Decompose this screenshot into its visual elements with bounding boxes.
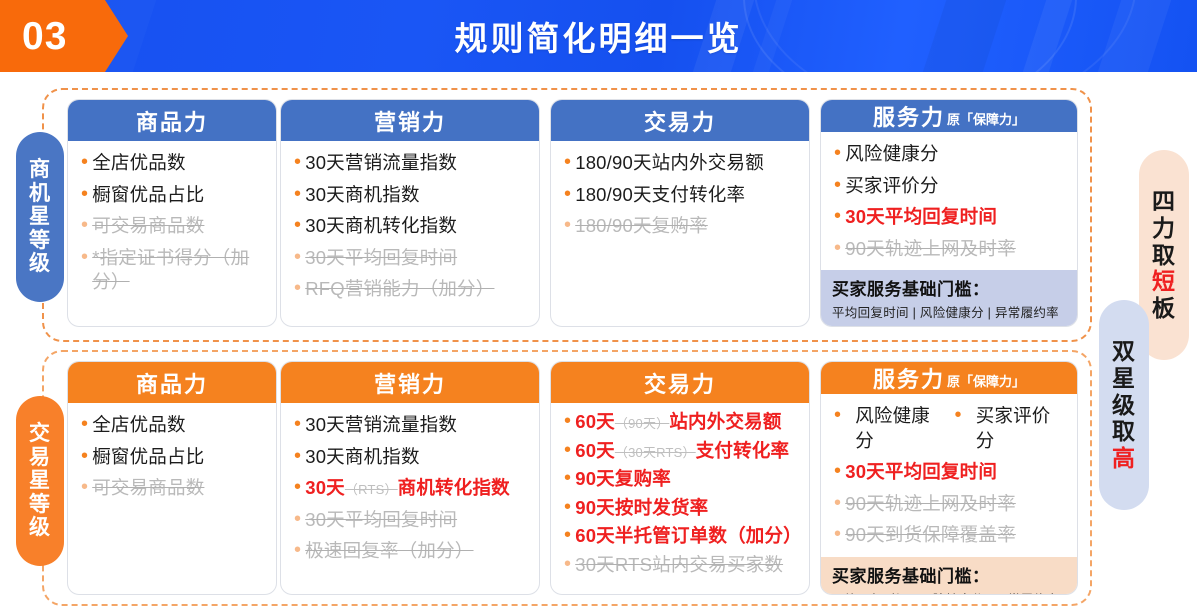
card-title: 服务力 [873, 100, 945, 132]
note-char: 双 [1112, 338, 1136, 365]
item-prefix: 60天 [575, 411, 615, 432]
section-number-badge: 03 [0, 0, 128, 72]
bullet-icon: • [294, 539, 301, 562]
bullet-icon: • [294, 246, 301, 269]
card-body: •风险健康分 •买家评价分 •30天平均回复时间 •90天轨迹上网及时率 •90… [821, 394, 1077, 557]
item-text: 风险健康分 [855, 404, 944, 453]
list-item: •180/90天站内外交易额 [564, 151, 797, 176]
bullet-icon: • [81, 445, 88, 468]
list-item: •30天平均回复时间 [834, 460, 1065, 485]
list-item: •可交易商品数 [81, 214, 264, 239]
row-label-char: 机 [29, 182, 51, 206]
item-text: 买家评价分 [976, 404, 1065, 453]
item-suffix: 商机转化指数 [398, 477, 510, 498]
bullet-icon: • [834, 460, 841, 483]
bullet-icon: • [294, 151, 301, 174]
bullet-icon: • [834, 492, 841, 515]
bullet-icon: • [81, 246, 88, 269]
footer-title: 买家服务基础门槛： [832, 275, 1067, 300]
list-item: •全店优品数 [81, 151, 264, 176]
card-body: •60天（90天）站内外交易额 •60天（30天RTS）支付转化率 •90天复购… [551, 403, 809, 594]
note-char: 四 [1152, 188, 1176, 215]
bullet-icon: • [834, 237, 841, 260]
list-item: •风险健康分 •买家评价分 [834, 404, 1065, 453]
list-item: •30天RTS站内交易买家数 [564, 553, 797, 578]
list-item: •60天（30天RTS）支付转化率 [564, 439, 797, 464]
list-item: •30天平均回复时间 [834, 205, 1065, 230]
list-item: •RFQ营销能力（加分） [294, 277, 527, 302]
list-item: •全店优品数 [81, 413, 264, 438]
bullet-icon: • [294, 413, 301, 436]
list-item: •60天（90天）站内外交易额 [564, 410, 797, 435]
bullet-icon: • [564, 183, 571, 206]
item-suffix: 支付转化率 [696, 440, 790, 461]
row-label-jiaoyi: 交 易 星 等 级 [16, 396, 64, 566]
card-jiaoyili-row1[interactable]: 交易力 •180/90天站内外交易额 •180/90天支付转化率 •180/90… [551, 100, 809, 326]
item-strike: （90天） [615, 416, 669, 431]
note-char: 取 [1112, 418, 1136, 445]
list-item: •风险健康分 [834, 142, 1065, 167]
list-item: •60天半托管订单数（加分） [564, 524, 797, 549]
row-label-char: 交 [29, 422, 51, 446]
footer-title: 买家服务基础门槛： [832, 562, 1067, 587]
bullet-icon: • [294, 508, 301, 531]
note-char: 取 [1152, 242, 1176, 269]
list-item: •买家评价分 [834, 174, 1065, 199]
bullet-icon: • [294, 214, 301, 237]
bullet-icon: • [81, 413, 88, 436]
list-item: •90天轨迹上网及时率 [834, 492, 1065, 517]
card-header: 服务力 原「保障力」 [821, 362, 1077, 394]
list-item: •90天按时发货率 [564, 496, 797, 521]
bullet-icon: • [834, 205, 841, 228]
bullet-icon: • [834, 174, 841, 197]
item-prefix: 30天 [305, 477, 345, 498]
list-item: •30天平均回复时间 [294, 508, 527, 533]
card-body: •30天营销流量指数 •30天商机指数 •30天商机转化指数 •30天平均回复时… [281, 141, 539, 326]
list-item: •可交易商品数 [81, 476, 264, 501]
bullet-icon: • [564, 214, 571, 237]
card-header: 交易力 [551, 100, 809, 141]
bullet-icon: • [81, 151, 88, 174]
card-title: 交易力 [644, 105, 716, 137]
row-label-char: 商 [29, 158, 51, 182]
note-char-highlight: 短 [1152, 268, 1176, 295]
bullet-icon: • [564, 410, 571, 433]
card-title: 营销力 [374, 105, 446, 137]
card-header: 营销力 [281, 100, 539, 141]
note-char-highlight: 高 [1112, 445, 1136, 472]
card-subtitle: 原「保障力」 [947, 109, 1025, 128]
card-title: 服务力 [873, 362, 945, 394]
card-header: 营销力 [281, 362, 539, 403]
row-label-shangji: 商 机 星 等 级 [16, 132, 64, 302]
bullet-icon: • [564, 524, 571, 547]
page-title: 规则简化明细一览 [0, 0, 1197, 72]
item-strike: （30天RTS） [615, 445, 696, 460]
list-item: •90天复购率 [564, 467, 797, 492]
list-item: •30天营销流量指数 [294, 413, 527, 438]
list-item: •极速回复率（加分） [294, 539, 527, 564]
item-strike: （RTS） [345, 482, 398, 497]
note-char: 级 [1112, 392, 1136, 419]
card-body: •全店优品数 •橱窗优品占比 •可交易商品数 •*指定证书得分（加分） [68, 141, 276, 326]
bullet-icon: • [564, 439, 571, 462]
card-body: •风险健康分 •买家评价分 •30天平均回复时间 •90天轨迹上网及时率 [821, 132, 1077, 270]
card-title: 商品力 [136, 367, 208, 399]
bullet-icon: • [834, 142, 841, 165]
list-item: •180/90天复购率 [564, 214, 797, 239]
note-double-star-high: 双 星 级 取 高 [1099, 300, 1149, 510]
footer-subtitle: 平均回复时间 | 风险健康分 | 异常履约率 [832, 302, 1067, 321]
card-header: 商品力 [68, 100, 276, 141]
bullet-icon: • [294, 183, 301, 206]
row-label-char: 星 [29, 469, 51, 493]
list-item: •180/90天支付转化率 [564, 183, 797, 208]
bullet-icon: • [81, 476, 88, 499]
card-fuwuli-row1[interactable]: 服务力 原「保障力」 •风险健康分 •买家评价分 •30天平均回复时间 •90天… [821, 100, 1077, 326]
row-label-char: 星 [29, 205, 51, 229]
note-char: 力 [1152, 215, 1176, 242]
card-footer-threshold: 买家服务基础门槛： 平均回复时间 | 风险健康分 | 异常履约率 [821, 557, 1077, 594]
list-item: •30天商机转化指数 [294, 214, 527, 239]
row-label-char: 级 [29, 252, 51, 276]
card-header: 交易力 [551, 362, 809, 403]
bullet-icon: • [834, 523, 841, 546]
bullet-icon: • [834, 404, 841, 427]
bullet-icon: • [955, 404, 962, 427]
card-shangpinli-row2[interactable]: 商品力 •全店优品数 •橱窗优品占比 •可交易商品数 [68, 362, 276, 594]
card-header: 服务力 原「保障力」 [821, 100, 1077, 132]
card-title: 交易力 [644, 367, 716, 399]
card-yingxiaoli-row1[interactable]: 营销力 •30天营销流量指数 •30天商机指数 •30天商机转化指数 •30天平… [281, 100, 539, 326]
row-label-char: 易 [29, 446, 51, 470]
item-suffix: 站内外交易额 [669, 411, 781, 432]
note-char: 板 [1152, 295, 1176, 322]
card-header: 商品力 [68, 362, 276, 403]
list-item: •30天平均回复时间 [294, 246, 527, 271]
list-item: •30天商机指数 [294, 445, 527, 470]
row-label-char: 等 [29, 493, 51, 517]
bullet-icon: • [564, 151, 571, 174]
bullet-icon: • [564, 467, 571, 490]
note-char: 星 [1112, 365, 1136, 392]
bullet-icon: • [81, 214, 88, 237]
bullet-icon: • [294, 277, 301, 300]
card-title: 商品力 [136, 105, 208, 137]
list-item: •30天商机指数 [294, 183, 527, 208]
bullet-icon: • [294, 476, 301, 499]
bullet-icon: • [564, 496, 571, 519]
card-yingxiaoli-row2[interactable]: 营销力 •30天营销流量指数 •30天商机指数 •30天（RTS）商机转化指数 … [281, 362, 539, 594]
card-title: 营销力 [374, 367, 446, 399]
bullet-icon: • [294, 445, 301, 468]
list-item: •30天营销流量指数 [294, 151, 527, 176]
card-body: •30天营销流量指数 •30天商机指数 •30天（RTS）商机转化指数 •30天… [281, 403, 539, 594]
list-item: •*指定证书得分（加分） [81, 246, 264, 295]
row-label-char: 级 [29, 516, 51, 540]
row-label-char: 等 [29, 229, 51, 253]
list-item: •90天轨迹上网及时率 [834, 237, 1065, 262]
bullet-icon: • [81, 183, 88, 206]
list-item: •橱窗优品占比 [81, 445, 264, 470]
item-prefix: 60天 [575, 440, 615, 461]
card-footer-threshold: 买家服务基础门槛： 平均回复时间 | 风险健康分 | 异常履约率 [821, 270, 1077, 326]
card-subtitle: 原「保障力」 [947, 371, 1025, 390]
footer-subtitle: 平均回复时间 | 风险健康分 | 异常履约率 [832, 589, 1067, 594]
card-body: •全店优品数 •橱窗优品占比 •可交易商品数 [68, 403, 276, 594]
list-item: •30天（RTS）商机转化指数 [294, 476, 527, 501]
card-fuwuli-row2[interactable]: 服务力 原「保障力」 •风险健康分 •买家评价分 •30天平均回复时间 •90天… [821, 362, 1077, 594]
card-shangpinli-row1[interactable]: 商品力 •全店优品数 •橱窗优品占比 •可交易商品数 •*指定证书得分（加分） [68, 100, 276, 326]
bullet-icon: • [564, 553, 571, 576]
list-item: •90天到货保障覆盖率 [834, 523, 1065, 548]
section-number: 03 [0, 17, 67, 56]
card-jiaoyili-row2[interactable]: 交易力 •60天（90天）站内外交易额 •60天（30天RTS）支付转化率 •9… [551, 362, 809, 594]
list-item: •橱窗优品占比 [81, 183, 264, 208]
card-body: •180/90天站内外交易额 •180/90天支付转化率 •180/90天复购率 [551, 141, 809, 326]
